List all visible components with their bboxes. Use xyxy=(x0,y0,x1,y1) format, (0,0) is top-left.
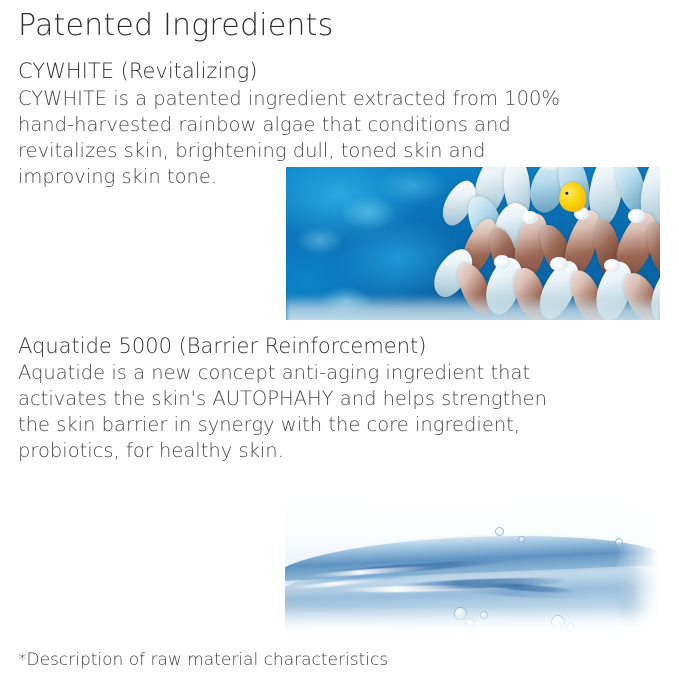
ingredient-info-page: Patented Ingredients CYWHITE (Revitalizi… xyxy=(0,0,679,679)
body-line: activates the skin's AUTOPHAHY and helps… xyxy=(18,386,668,412)
body-line: the skin barrier in synergy with the cor… xyxy=(18,412,668,438)
body-line: CYWHITE is a patented ingredient extract… xyxy=(18,86,658,112)
footnote: *Description of raw material characteris… xyxy=(18,648,388,672)
section-heading-cywhite: CYWHITE (Revitalizing) xyxy=(18,57,257,85)
page-title: Patented Ingredients xyxy=(18,6,333,46)
coral-reef-image xyxy=(286,167,660,320)
section-heading-aquatide: Aquatide 5000 (Barrier Reinforcement) xyxy=(18,332,426,360)
water-edge-fade-bottom xyxy=(285,607,660,637)
reef-floor xyxy=(286,294,660,320)
section-body-aquatide: Aquatide is a new concept anti-aging ing… xyxy=(18,360,668,464)
water-splash-image xyxy=(285,500,660,637)
body-line: hand-harvested rainbow algae that condit… xyxy=(18,112,658,138)
body-line: probiotics, for healthy skin. xyxy=(18,438,668,464)
body-line: revitalizes skin, brightening dull, tone… xyxy=(18,138,658,164)
body-line: Aquatide is a new concept anti-aging ing… xyxy=(18,360,668,386)
